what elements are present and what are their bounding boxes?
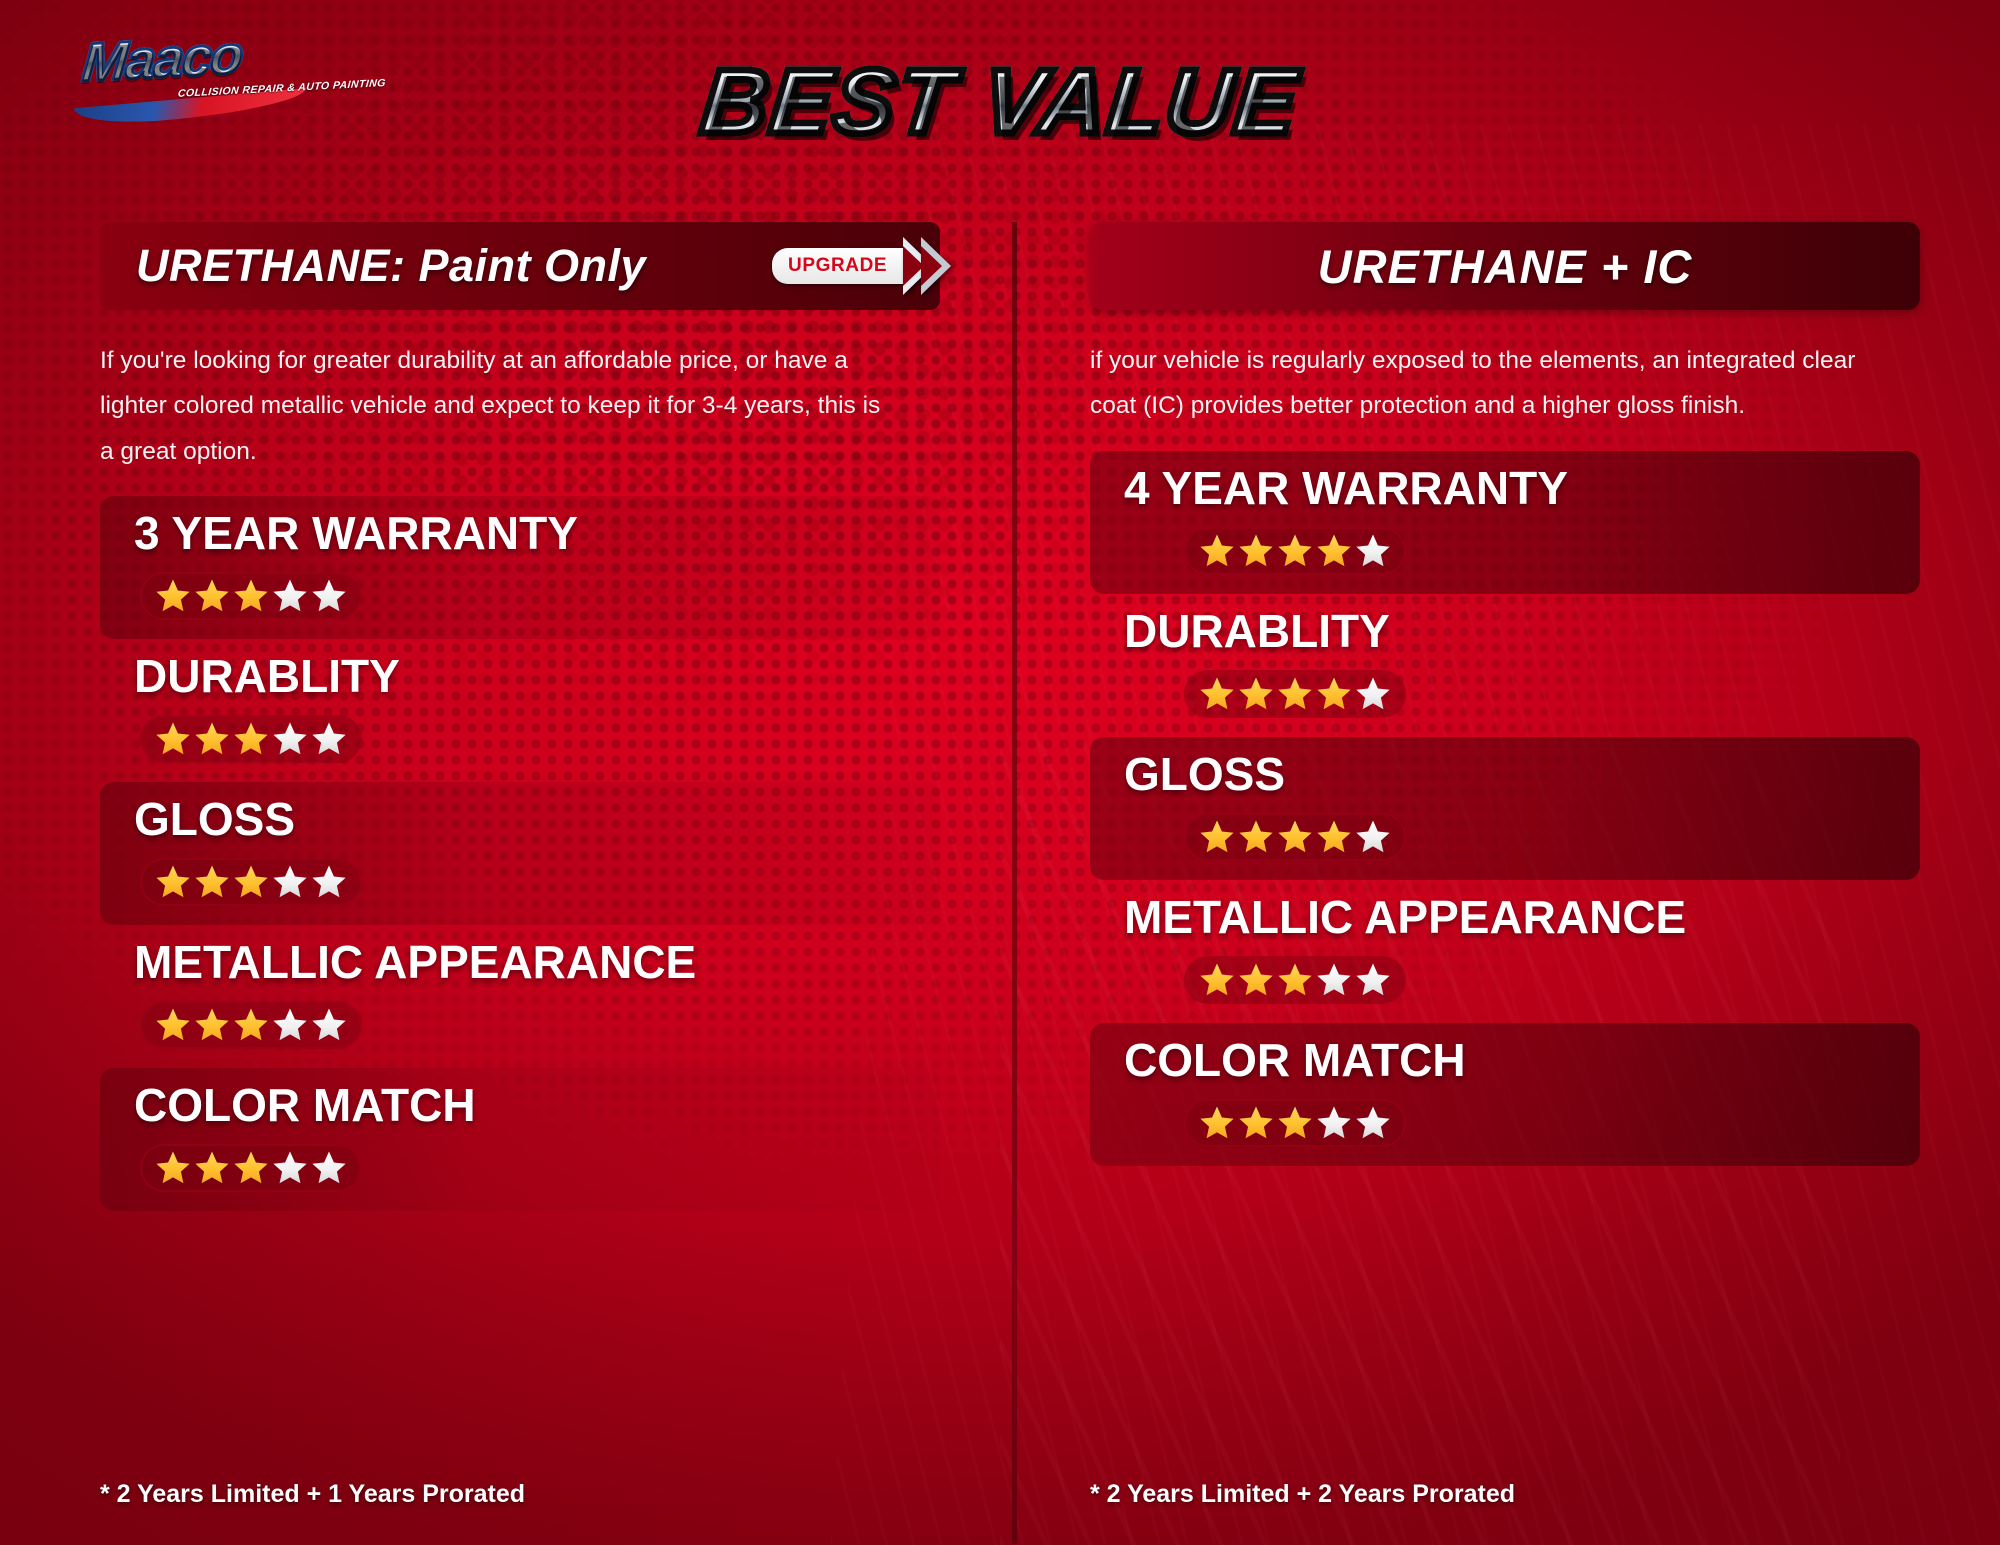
star-filled-icon [1237,961,1275,999]
feature-label: 3 YEAR WARRANTY [134,510,940,556]
feature-row: 3 YEAR WARRANTY [100,496,940,639]
star-empty-icon [310,1149,348,1187]
star-filled-icon [232,577,270,615]
star-filled-icon [232,863,270,901]
column-divider [1012,222,1017,1544]
feature-list-right: 4 YEAR WARRANTYDURABLITYGLOSSMETALLIC AP… [1090,451,1950,1166]
feature-row: GLOSS [100,782,940,925]
star-filled-icon [1198,532,1236,570]
star-filled-icon [154,577,192,615]
star-rating [140,858,362,906]
star-empty-icon [310,863,348,901]
star-filled-icon [1198,961,1236,999]
feature-row: COLOR MATCH [1090,1023,1920,1166]
feature-label: 4 YEAR WARRANTY [1124,465,1920,511]
column-title-right: URETHANE + IC [1318,239,1693,294]
star-rating [1184,813,1406,861]
star-filled-icon [193,1006,231,1044]
star-empty-icon [271,720,309,758]
feature-row: METALLIC APPEARANCE [100,925,960,1068]
star-rating [140,1001,362,1049]
star-empty-icon [1354,818,1392,856]
star-filled-icon [1237,1104,1275,1142]
star-rating [1184,1099,1406,1147]
star-filled-icon [193,577,231,615]
star-rating [1184,670,1406,718]
feature-label: DURABLITY [134,653,960,699]
star-empty-icon [1354,675,1392,713]
star-empty-icon [310,720,348,758]
star-rating [140,715,362,763]
column-header-left: URETHANE: Paint Only UPGRADE [100,222,940,310]
comparison-columns: URETHANE: Paint Only UPGRADE If you're l… [0,0,2000,1545]
star-empty-icon [1315,961,1353,999]
star-filled-icon [1276,1104,1314,1142]
feature-row: GLOSS [1090,737,1920,880]
star-filled-icon [154,720,192,758]
star-empty-icon [310,577,348,615]
feature-row: METALLIC APPEARANCE [1090,880,1950,1023]
star-filled-icon [1276,961,1314,999]
feature-list-left: 3 YEAR WARRANTYDURABLITYGLOSSMETALLIC AP… [100,496,960,1211]
feature-row: DURABLITY [100,639,960,782]
column-header-right: URETHANE + IC [1090,222,1920,310]
column-urethane-plus-ic: URETHANE + IC if your vehicle is regular… [1090,222,1950,1166]
star-empty-icon [1315,1104,1353,1142]
star-filled-icon [232,1149,270,1187]
upgrade-badge[interactable]: UPGRADE [772,248,907,284]
star-filled-icon [1276,675,1314,713]
footnote-left: * 2 Years Limited + 1 Years Prorated [100,1480,525,1509]
star-filled-icon [232,720,270,758]
column-title-left: URETHANE: Paint Only [100,240,646,292]
column-description-right: if your vehicle is regularly exposed to … [1090,338,1880,429]
star-empty-icon [271,577,309,615]
upgrade-indicator[interactable]: UPGRADE [772,237,951,295]
star-filled-icon [1315,532,1353,570]
star-filled-icon [193,1149,231,1187]
star-rating [1184,956,1406,1004]
column-urethane-paint-only: URETHANE: Paint Only UPGRADE If you're l… [100,222,960,1211]
star-filled-icon [1315,818,1353,856]
star-filled-icon [1237,818,1275,856]
feature-row: COLOR MATCH [100,1068,940,1211]
footnote-right: * 2 Years Limited + 2 Years Prorated [1090,1480,1515,1509]
star-empty-icon [1354,961,1392,999]
star-empty-icon [1354,532,1392,570]
star-filled-icon [1276,532,1314,570]
star-rating [140,1144,362,1192]
feature-label: DURABLITY [1124,608,1950,654]
feature-label: GLOSS [1124,751,1920,797]
star-filled-icon [154,863,192,901]
star-empty-icon [1354,1104,1392,1142]
star-rating [1184,527,1406,575]
column-description-left: If you're looking for greater durability… [100,338,900,474]
star-filled-icon [1198,1104,1236,1142]
star-empty-icon [271,863,309,901]
star-filled-icon [1315,675,1353,713]
star-filled-icon [154,1006,192,1044]
star-filled-icon [232,1006,270,1044]
star-filled-icon [193,720,231,758]
star-empty-icon [271,1006,309,1044]
chevron-right-icon [921,237,951,295]
star-filled-icon [1276,818,1314,856]
feature-row: DURABLITY [1090,594,1950,737]
star-filled-icon [193,863,231,901]
star-filled-icon [1198,675,1236,713]
star-empty-icon [310,1006,348,1044]
star-filled-icon [1198,818,1236,856]
star-empty-icon [271,1149,309,1187]
star-filled-icon [1237,675,1275,713]
feature-label: COLOR MATCH [134,1082,940,1128]
feature-label: GLOSS [134,796,940,842]
feature-row: 4 YEAR WARRANTY [1090,451,1920,594]
feature-label: METALLIC APPEARANCE [134,939,960,985]
star-rating [140,572,362,620]
feature-label: METALLIC APPEARANCE [1124,894,1950,940]
star-filled-icon [1237,532,1275,570]
star-filled-icon [154,1149,192,1187]
feature-label: COLOR MATCH [1124,1037,1920,1083]
